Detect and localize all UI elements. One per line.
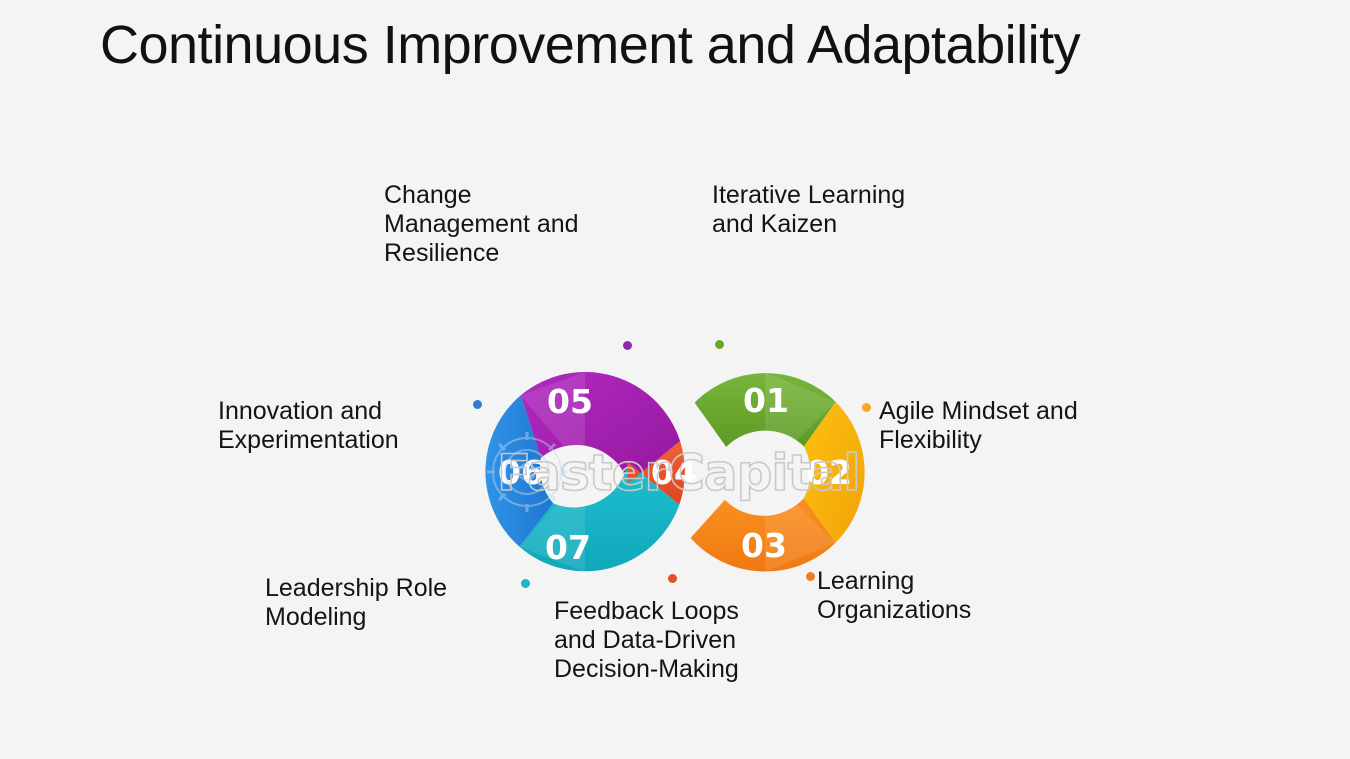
label-learning-organizations: Learning Organizations	[817, 567, 1017, 625]
label-agile-mindset: Agile Mindset and Flexibility	[879, 397, 1129, 455]
watermark-text: FasterCapital	[497, 444, 859, 502]
label-change-management: Change Management and Resilience	[384, 181, 644, 268]
marker-dot-04	[668, 574, 677, 583]
step-number-07: 07	[545, 528, 591, 567]
label-feedback-loops: Feedback Loops and Data-Driven Decision-…	[554, 597, 789, 684]
marker-dot-02	[862, 403, 871, 412]
marker-dot-03	[806, 572, 815, 581]
marker-dot-01	[715, 340, 724, 349]
marker-dot-07	[521, 579, 530, 588]
step-number-03: 03	[741, 526, 787, 565]
label-innovation: Innovation and Experimentation	[218, 397, 458, 455]
step-number-05: 05	[547, 382, 593, 421]
label-leadership: Leadership Role Modeling	[265, 574, 505, 632]
marker-dot-05	[623, 341, 632, 350]
marker-dot-06	[473, 400, 482, 409]
label-iterative-learning: Iterative Learning and Kaizen	[712, 181, 962, 239]
slide-canvas: Continuous Improvement and Adaptability	[0, 0, 1350, 759]
step-number-01: 01	[743, 381, 789, 420]
